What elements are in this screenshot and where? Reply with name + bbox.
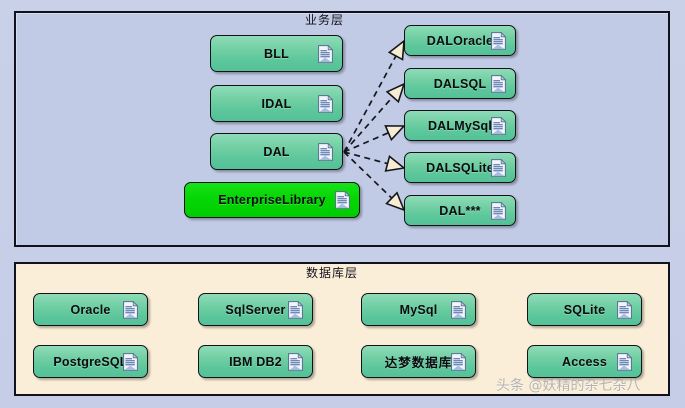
document-icon — [451, 301, 466, 319]
node-label: EnterpriseLibrary — [218, 193, 326, 207]
node-dalmysql[interactable]: DALMySql — [404, 110, 516, 141]
node-label: DALMySql — [428, 119, 492, 133]
node-label: PostgreSQL — [53, 355, 127, 369]
node-label: DAL*** — [439, 204, 480, 218]
node-label: DALSQLite — [426, 161, 494, 175]
node-label: SqlServer — [225, 303, 285, 317]
document-icon — [491, 159, 506, 177]
document-icon — [491, 117, 506, 135]
document-icon — [491, 75, 506, 93]
watermark: 头条 @妖精的杂七杂八 — [496, 375, 640, 395]
document-icon — [318, 143, 333, 161]
node-label: Oracle — [70, 303, 110, 317]
document-icon — [123, 353, 138, 371]
node-dalsqlite[interactable]: DALSQLite — [404, 152, 516, 183]
document-icon — [288, 301, 303, 319]
document-icon — [617, 353, 632, 371]
db-node-mysql[interactable]: MySql — [361, 293, 476, 326]
node-label: IBM DB2 — [229, 355, 282, 369]
node-label: BLL — [264, 47, 289, 61]
node-dal[interactable]: DAL*** — [404, 195, 516, 226]
node-daloracle[interactable]: DALOracle — [404, 25, 516, 56]
node-label: MySql — [400, 303, 438, 317]
node-label: IDAL — [262, 97, 292, 111]
document-icon — [123, 301, 138, 319]
document-icon — [491, 202, 506, 220]
db-node-postgresql[interactable]: PostgreSQL — [33, 345, 148, 378]
node-enterpriselibrary[interactable]: EnterpriseLibrary — [184, 182, 360, 218]
document-icon — [318, 45, 333, 63]
node-bll[interactable]: BLL — [210, 35, 343, 72]
db-node-sqlserver[interactable]: SqlServer — [198, 293, 313, 326]
node-label: DAL — [263, 145, 289, 159]
node-label: 达梦数据库 — [385, 352, 453, 371]
document-icon — [451, 353, 466, 371]
document-icon — [288, 353, 303, 371]
db-node-node[interactable]: 达梦数据库 — [361, 345, 476, 378]
document-icon — [318, 95, 333, 113]
business-layer-title: 业务层 — [305, 11, 344, 28]
node-idal[interactable]: IDAL — [210, 85, 343, 122]
document-icon — [335, 191, 350, 209]
db-node-ibm-db2[interactable]: IBM DB2 — [198, 345, 313, 378]
diagram-canvas: 业务层 数据库层 BLLIDALDALEnterpriseLibraryDALO… — [0, 0, 685, 408]
db-node-oracle[interactable]: Oracle — [33, 293, 148, 326]
document-icon — [491, 32, 506, 50]
node-label: DALOracle — [427, 34, 493, 48]
node-label: Access — [562, 355, 607, 369]
db-node-sqlite[interactable]: SQLite — [527, 293, 642, 326]
db-node-access[interactable]: Access — [527, 345, 642, 378]
node-label: SQLite — [564, 303, 605, 317]
node-dal[interactable]: DAL — [210, 133, 343, 170]
node-dalsql[interactable]: DALSQL — [404, 68, 516, 99]
document-icon — [617, 301, 632, 319]
node-label: DALSQL — [434, 77, 487, 91]
database-layer-title: 数据库层 — [306, 264, 358, 281]
